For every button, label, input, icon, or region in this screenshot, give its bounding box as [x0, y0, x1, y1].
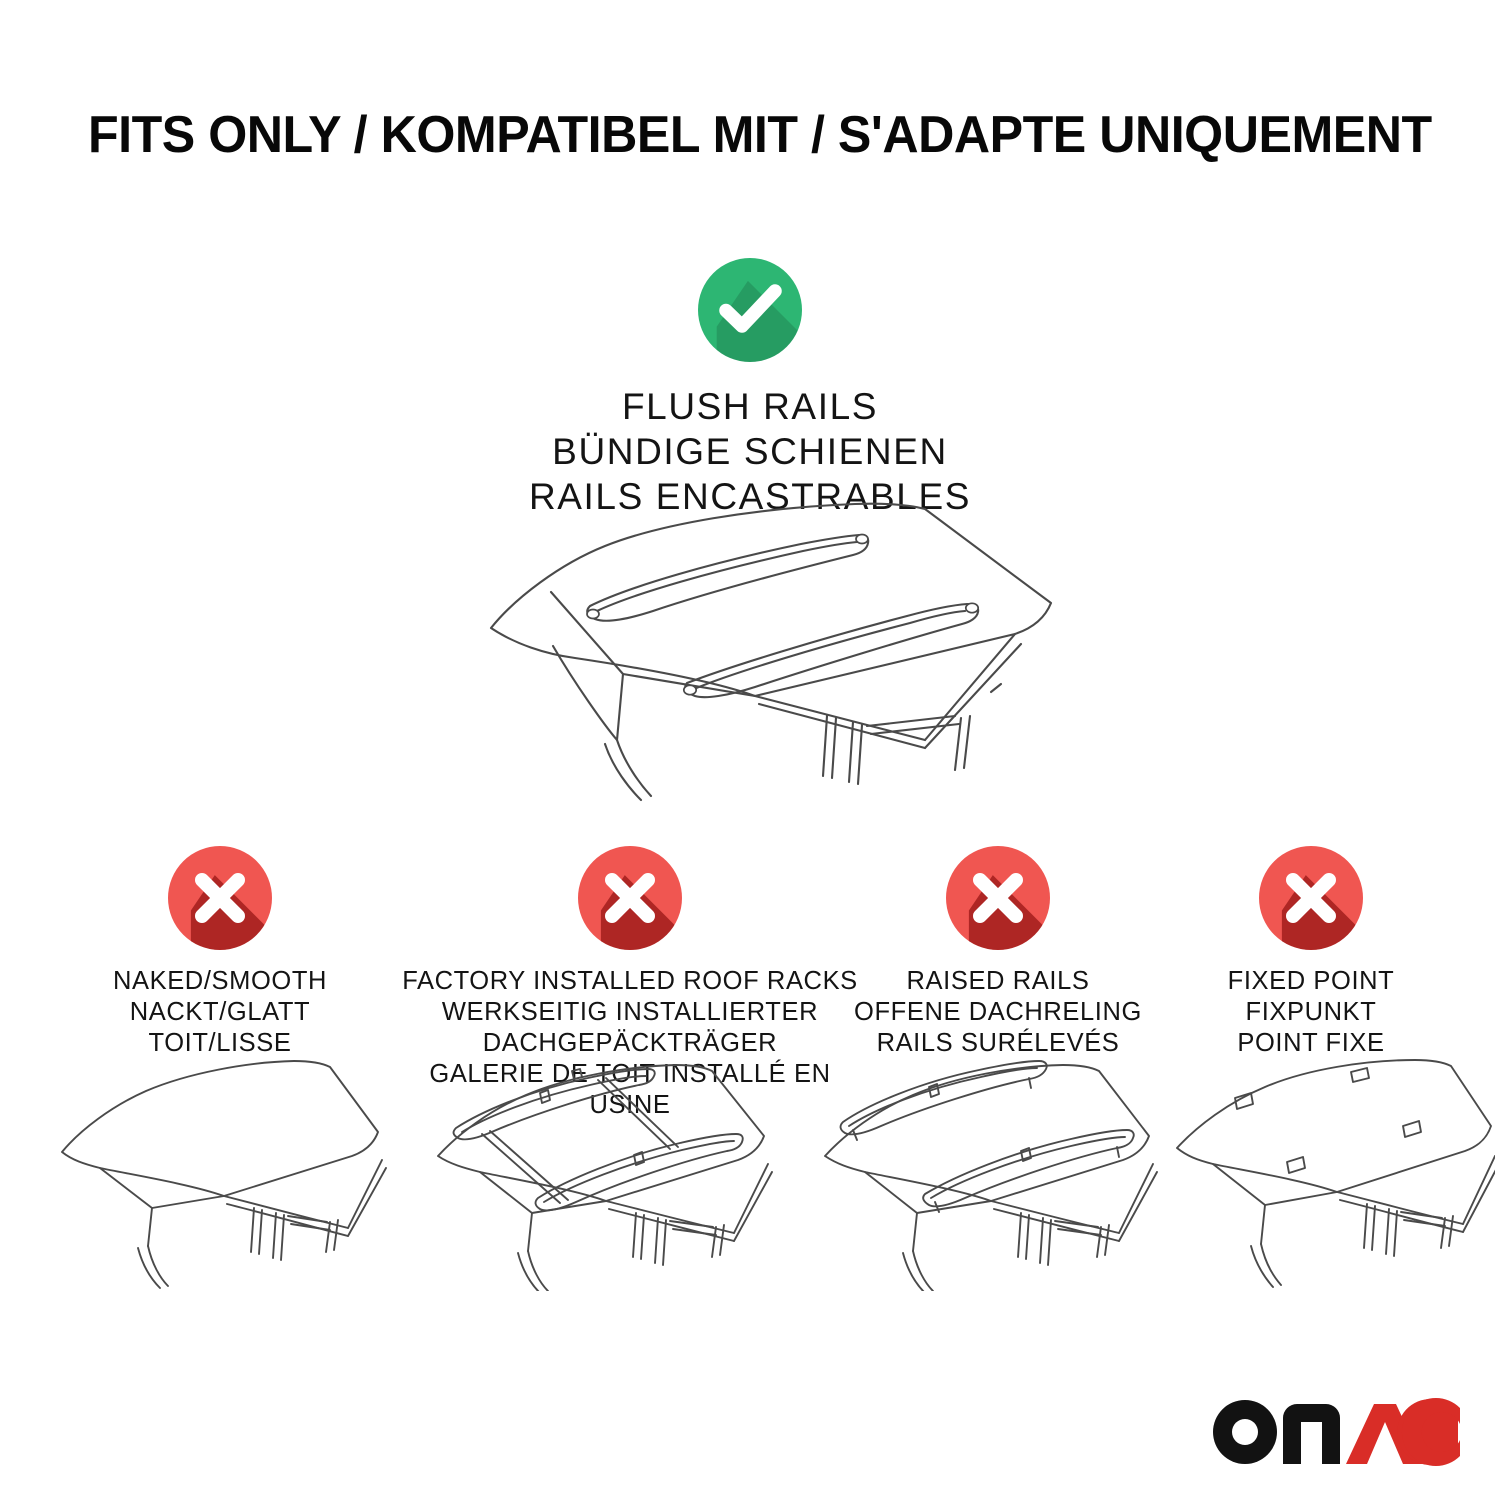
label-line-de: OFFENE DACHRELING [848, 997, 1148, 1028]
incompatible-item-naked-smooth: NAKED/SMOOTH NACKT/GLATT TOIT/LISSE [40, 846, 400, 1059]
car-roof-with-flush-rails-illustration [455, 478, 1075, 808]
label-line-de: NACKT/GLATT [40, 997, 400, 1028]
green-check-circle-icon [698, 258, 802, 362]
incompatible-item-raised-rails: RAISED RAILS OFFENE DACHRELING RAILS SUR… [848, 846, 1148, 1059]
car-roof-naked-smooth-illustration [48, 1056, 393, 1291]
label-line-fr: POINT FIXE [1158, 1028, 1464, 1059]
page-title: FITS ONLY / KOMPATIBEL MIT / S'ADAPTE UN… [88, 104, 1381, 166]
red-x-circle-icon [1259, 846, 1363, 950]
car-roof-fixed-point-illustration [1165, 1056, 1495, 1291]
label-line-de: FIXPUNKT [1158, 997, 1464, 1028]
label-line-en: RAISED RAILS [848, 966, 1148, 997]
red-x-circle-icon [168, 846, 272, 950]
incompatible-labels: FIXED POINT FIXPUNKT POINT FIXE [1158, 966, 1464, 1059]
car-roof-factory-roof-racks-illustration [420, 1056, 790, 1291]
label-line-fr: TOIT/LISSE [40, 1028, 400, 1059]
label-line-de-2: DACHGEPÄCKTRÄGER [392, 1028, 868, 1059]
label-line-de-1: WERKSEITIG INSTALLIERTER [392, 997, 868, 1028]
compatible-label-en: FLUSH RAILS [0, 384, 1500, 429]
omac-logo [1210, 1396, 1460, 1468]
incompatible-labels: NAKED/SMOOTH NACKT/GLATT TOIT/LISSE [40, 966, 400, 1059]
label-line-en: FACTORY INSTALLED ROOF RACKS [392, 966, 868, 997]
compatible-label-de: BÜNDIGE SCHIENEN [0, 429, 1500, 474]
label-line-en: FIXED POINT [1158, 966, 1464, 997]
label-line-fr: RAILS SURÉLEVÉS [848, 1028, 1148, 1059]
car-roof-raised-rails-illustration [805, 1056, 1170, 1291]
red-x-circle-icon [946, 846, 1050, 950]
incompatible-item-fixed-point: FIXED POINT FIXPUNKT POINT FIXE [1158, 846, 1464, 1059]
label-line-en: NAKED/SMOOTH [40, 966, 400, 997]
incompatible-labels: RAISED RAILS OFFENE DACHRELING RAILS SUR… [848, 966, 1148, 1059]
red-x-circle-icon [578, 846, 682, 950]
